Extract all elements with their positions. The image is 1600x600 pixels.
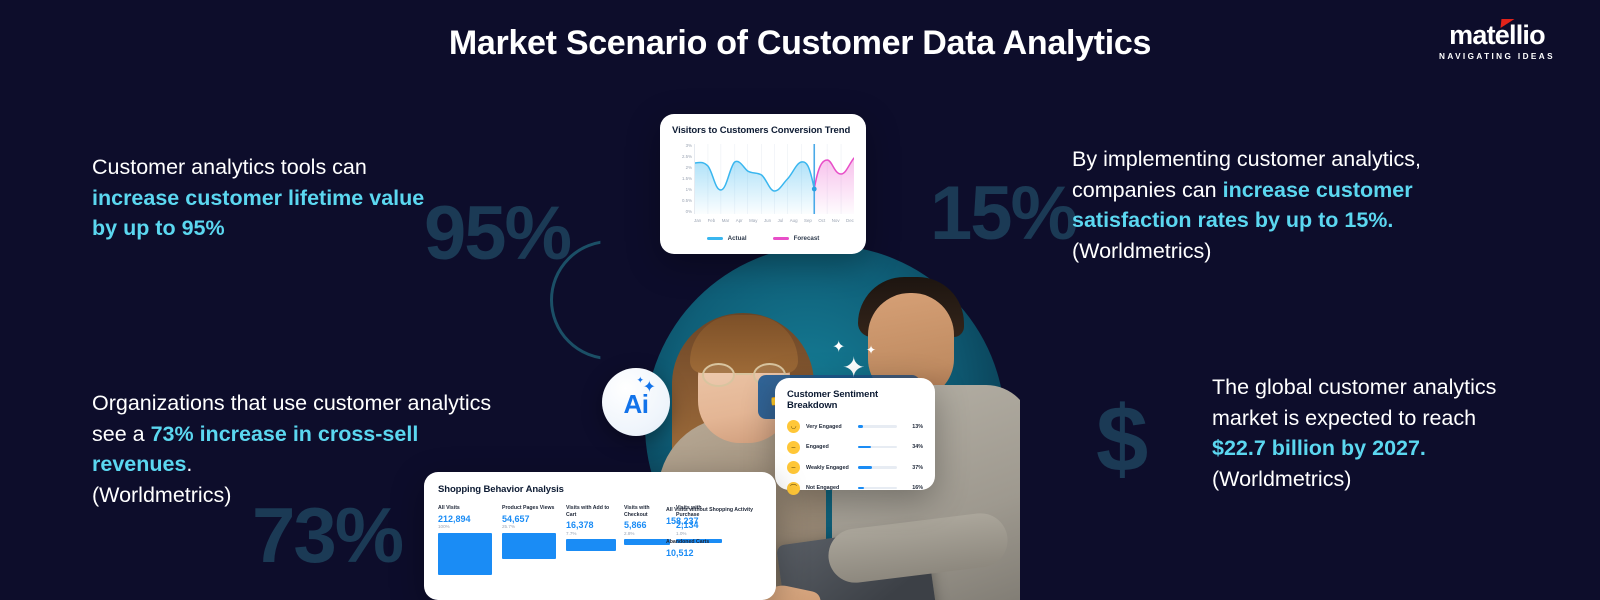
infographic-canvas: Market Scenario of Customer Data Analyti… — [0, 0, 1600, 600]
x-tick: Oct — [818, 219, 825, 223]
emoji-very-engaged-icon: ◡ — [787, 420, 800, 433]
funnel-label: Visits with Add to Cart — [566, 505, 616, 518]
sentiment-bar — [858, 446, 897, 449]
y-tick: 2.5% — [672, 155, 692, 159]
side-stat-value: 158,237 — [666, 516, 758, 527]
sentiment-label: Weakly Engaged — [806, 465, 852, 471]
conversion-trend-card: Visitors to Customers Conversion Trend 3… — [660, 114, 866, 254]
funnel-column: Product Pages Views 54,657 25.7% — [502, 505, 556, 589]
y-tick: 0% — [672, 210, 692, 214]
funnel-bar — [438, 533, 492, 575]
stat-bottom-left-tail: . — [186, 452, 192, 476]
sentiment-row: ◡ Very Engaged 13% — [787, 420, 923, 433]
brand-logo: matellio NAVIGATING IDEAS — [1422, 22, 1572, 61]
legend-item-actual: Actual — [707, 235, 747, 242]
funnel-value: 212,894 — [438, 514, 492, 525]
sentiment-card: Customer Sentiment Breakdown ◡ Very Enga… — [775, 378, 935, 490]
sentiment-row: ⌒ Not Engaged 16% — [787, 482, 923, 495]
funnel-value: 5,866 — [624, 520, 670, 531]
conversion-trend-plot: 3% 2.5% 2% 1.5% 1% 0.5% 0% — [672, 144, 854, 222]
legend-swatch-forecast — [773, 237, 789, 240]
x-tick: Dec — [846, 219, 854, 223]
funnel-percent: 25.7% — [502, 524, 556, 530]
logo-triangle-icon — [1501, 19, 1515, 28]
side-stat-label: Abandoned Carts — [666, 539, 758, 546]
sentiment-title: Customer Sentiment Breakdown — [787, 389, 923, 411]
stat-top-left: Customer analytics tools can increase cu… — [92, 152, 452, 244]
x-tick: Apr — [736, 219, 743, 223]
trend-y-axis: 3% 2.5% 2% 1.5% 1% 0.5% 0% — [672, 144, 692, 214]
legend-swatch-actual — [707, 237, 723, 240]
shopping-behavior-title: Shopping Behavior Analysis — [438, 484, 762, 495]
sparkle-icon-medium: ✦ — [832, 340, 845, 356]
funnel-label: Product Pages Views — [502, 505, 556, 512]
watermark-dollar: $ — [1096, 392, 1146, 486]
funnel-percent: 100% — [438, 524, 492, 530]
stat-top-left-lead: Customer analytics tools can — [92, 155, 367, 179]
funnel-column: All Visits 212,894 100% — [438, 505, 492, 589]
ai-sparkle-icon-small: ✦ — [636, 376, 644, 385]
x-tick: Mar — [722, 219, 730, 223]
x-tick: Jan — [694, 219, 701, 223]
funnel-bar — [566, 539, 616, 551]
x-tick: Nov — [832, 219, 840, 223]
trend-plot-area — [694, 144, 854, 214]
trend-x-axis: Jan Feb Mar Apr May Jun Jul Aug Sep Oct … — [694, 219, 854, 223]
page-title: Market Scenario of Customer Data Analyti… — [0, 24, 1600, 63]
sentiment-bar — [858, 487, 897, 490]
funnel-value: 16,378 — [566, 520, 616, 531]
funnel-percent: 7.7% — [566, 531, 616, 537]
x-tick: Feb — [708, 219, 716, 223]
sentiment-value: 13% — [907, 424, 923, 430]
stat-top-right: By implementing customer analytics, comp… — [1072, 144, 1492, 267]
stat-bottom-right-highlight: $22.7 billion by 2027. — [1212, 436, 1426, 460]
side-stat: All Visits without Shopping Activity 158… — [666, 507, 758, 527]
side-stat-label: All Visits without Shopping Activity — [666, 507, 758, 514]
ai-badge: Ai ✦ ✦ — [602, 368, 670, 436]
logo-tagline: NAVIGATING IDEAS — [1422, 52, 1572, 61]
x-tick: Sep — [804, 219, 812, 223]
x-tick: May — [749, 219, 757, 223]
sentiment-row: – Weakly Engaged 37% — [787, 461, 923, 474]
logo-wordmark: matellio — [1449, 22, 1545, 49]
sentiment-value: 37% — [907, 465, 923, 471]
sentiment-value: 16% — [907, 485, 923, 491]
stat-bottom-right-source: (Worldmetrics) — [1212, 464, 1512, 495]
sentiment-label: Very Engaged — [806, 424, 852, 430]
legend-item-forecast: Forecast — [773, 235, 820, 242]
x-tick: Jun — [764, 219, 771, 223]
funnel-column: Visits with Add to Cart 16,378 7.7% — [566, 505, 616, 589]
stat-top-left-highlight: increase customer lifetime value by up t… — [92, 186, 424, 241]
shopping-behavior-card: Shopping Behavior Analysis All Visits 21… — [424, 472, 776, 600]
funnel-label: All Visits — [438, 505, 492, 512]
emoji-not-engaged-icon: ⌒ — [787, 482, 800, 495]
y-tick: 2% — [672, 166, 692, 170]
stat-bottom-right-lead: The global customer analytics market is … — [1212, 375, 1496, 430]
funnel-bar — [502, 533, 556, 559]
y-tick: 3% — [672, 144, 692, 148]
funnel-column: Visits with Checkout 5,866 2.8% — [624, 505, 670, 589]
sentiment-bar — [858, 425, 897, 428]
sentiment-value: 34% — [907, 444, 923, 450]
side-stat: Abandoned Carts 10,512 — [666, 539, 758, 559]
funnel-percent: 2.8% — [624, 531, 670, 537]
stat-bottom-right: The global customer analytics market is … — [1212, 372, 1512, 495]
shopping-funnel: All Visits 212,894 100% Product Pages Vi… — [438, 505, 762, 589]
trend-svg — [695, 144, 854, 214]
trend-legend: Actual Forecast — [672, 235, 854, 242]
y-tick: 1.5% — [672, 177, 692, 181]
y-tick: 1% — [672, 188, 692, 192]
x-tick: Aug — [790, 219, 798, 223]
funnel-value: 54,657 — [502, 514, 556, 525]
sentiment-rows: ◡ Very Engaged 13% – Engaged 34% – Weakl… — [787, 420, 923, 495]
legend-label-forecast: Forecast — [794, 235, 820, 242]
sentiment-row: – Engaged 34% — [787, 441, 923, 454]
sentiment-label: Engaged — [806, 444, 852, 450]
emoji-engaged-icon: – — [787, 441, 800, 454]
logo-word-text: matellio — [1449, 20, 1545, 50]
y-tick: 0.5% — [672, 199, 692, 203]
funnel-bar — [624, 539, 670, 545]
side-stat-value: 10,512 — [666, 548, 758, 559]
sentiment-label: Not Engaged — [806, 485, 852, 491]
ai-sparkle-icon-large: ✦ — [643, 380, 656, 396]
sentiment-bar — [858, 466, 897, 469]
stat-top-right-source: (Worldmetrics) — [1072, 236, 1492, 267]
emoji-weakly-engaged-icon: – — [787, 461, 800, 474]
shopping-side-stats: All Visits without Shopping Activity 158… — [666, 507, 758, 571]
legend-label-actual: Actual — [728, 235, 747, 242]
x-tick: Jul — [778, 219, 784, 223]
sparkle-icon-small: ✦ — [866, 344, 876, 356]
funnel-label: Visits with Checkout — [624, 505, 670, 518]
conversion-trend-title: Visitors to Customers Conversion Trend — [672, 125, 854, 136]
